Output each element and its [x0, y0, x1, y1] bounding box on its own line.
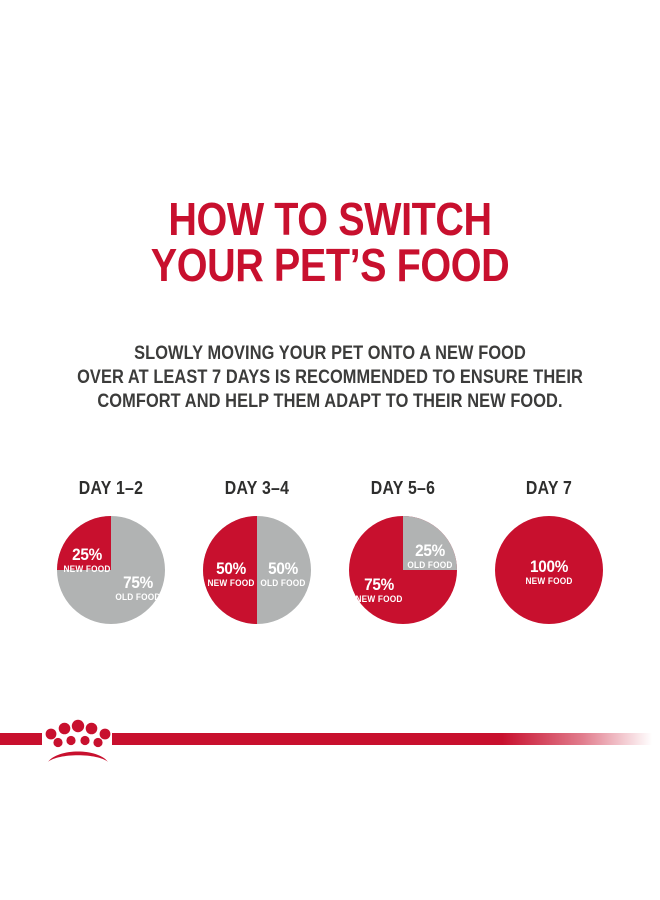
pie-chart-day-7: 100% NEW FOOD [495, 516, 603, 624]
pie-svg [203, 516, 311, 624]
pie-chart-row: DAY 1–2 25% NEW FOOD 75% OLD FOOD DAY 3–… [0, 478, 660, 638]
pie-group-day-5-6: DAY 5–6 75% NEW FOOD 25% OLD FOOD [328, 478, 478, 638]
page-subtitle: SLOWLY MOVING YOUR PET ONTO A NEW FOOD O… [0, 341, 660, 413]
pie-group-day-3-4: DAY 3–4 50% NEW FOOD 50% OLD FOOD [182, 478, 332, 638]
pie-slice-old-food [403, 516, 457, 570]
pie-group-day-7: DAY 7 100% NEW FOOD [474, 478, 624, 638]
title-line-1: HOW TO SWITCH [46, 196, 614, 242]
title-line-2: YOUR PET’S FOOD [46, 242, 614, 288]
pie-slice-new-food [495, 516, 603, 624]
footer-rule-left [0, 733, 42, 745]
subtitle-line-3: COMFORT AND HELP THEM ADAPT TO THEIR NEW… [53, 389, 607, 413]
pie-svg [495, 516, 603, 624]
pie-chart-day-1-2: 25% NEW FOOD 75% OLD FOOD [57, 516, 165, 624]
pie-day-label: DAY 3–4 [191, 478, 323, 498]
pie-group-day-1-2: DAY 1–2 25% NEW FOOD 75% OLD FOOD [36, 478, 186, 638]
pie-day-label: DAY 5–6 [337, 478, 469, 498]
royal-canin-crown-logo-icon [44, 714, 112, 768]
pie-svg [57, 516, 165, 624]
crown-icon [44, 714, 112, 768]
pie-chart-day-5-6: 75% NEW FOOD 25% OLD FOOD [349, 516, 457, 624]
pie-slice-new-food [57, 516, 111, 570]
pie-svg [349, 516, 457, 624]
pie-day-label: DAY 1–2 [45, 478, 177, 498]
pie-slice-new-food [203, 516, 257, 624]
page-title: HOW TO SWITCH YOUR PET’S FOOD [0, 196, 660, 288]
infographic-root: HOW TO SWITCH YOUR PET’S FOOD SLOWLY MOV… [0, 0, 660, 900]
pie-day-label: DAY 7 [483, 478, 615, 498]
subtitle-line-1: SLOWLY MOVING YOUR PET ONTO A NEW FOOD [53, 341, 607, 365]
pie-chart-day-3-4: 50% NEW FOOD 50% OLD FOOD [203, 516, 311, 624]
subtitle-line-2: OVER AT LEAST 7 DAYS IS RECOMMENDED TO E… [53, 365, 607, 389]
footer-rule-right-fading [112, 733, 660, 745]
